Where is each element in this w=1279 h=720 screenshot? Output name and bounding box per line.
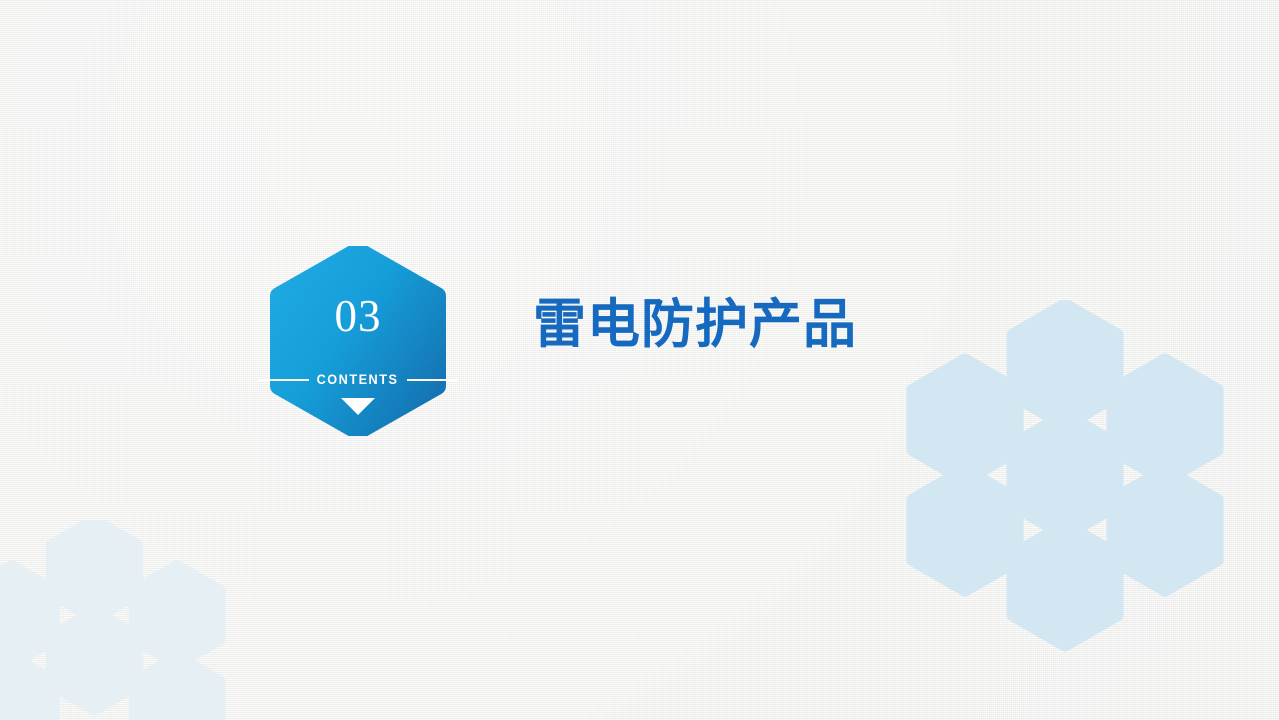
honeycomb-cell xyxy=(913,470,1017,590)
honeycomb-cell xyxy=(1013,305,1117,425)
honeycomb-cluster-right xyxy=(860,300,1240,680)
honeycomb-cell xyxy=(134,656,220,720)
presentation-slide: 03 CONTENTS 雷电防护产品 xyxy=(0,0,1279,720)
honeycomb-cell xyxy=(0,565,55,664)
honeycomb-cell xyxy=(1113,360,1217,480)
honeycomb-cluster-left xyxy=(0,520,260,720)
honeycomb-cell xyxy=(51,611,137,710)
honeycomb-cell xyxy=(913,360,1017,480)
triangle-down-icon xyxy=(341,398,375,415)
slide-background-texture xyxy=(0,0,1279,720)
honeycomb-cell xyxy=(1113,470,1217,590)
honeycomb-cell xyxy=(1013,525,1117,645)
badge-contents-label: CONTENTS xyxy=(312,373,403,387)
badge-contents-rule: CONTENTS xyxy=(258,371,458,389)
honeycomb-cell xyxy=(134,565,220,664)
badge-rule-left xyxy=(258,379,309,381)
honeycomb-cell xyxy=(1013,415,1117,535)
page-title: 雷电防护产品 xyxy=(533,294,857,356)
badge-number: 03 xyxy=(266,294,450,339)
honeycomb-cell xyxy=(0,656,55,720)
section-number-badge: 03 CONTENTS xyxy=(266,246,450,436)
honeycomb-cell xyxy=(51,520,137,619)
badge-rule-right xyxy=(407,379,458,381)
